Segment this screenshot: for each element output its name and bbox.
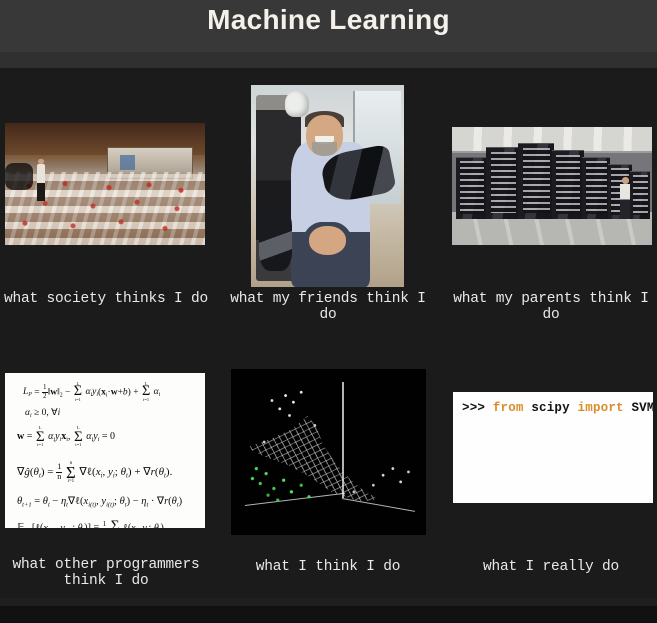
keyword-import: import — [578, 401, 624, 415]
lecture-presenter — [37, 164, 45, 201]
panel-society-image — [5, 123, 205, 245]
server-rack — [552, 150, 584, 219]
keyword-from: from — [493, 401, 524, 415]
svm-3d-surface-plot — [231, 369, 426, 535]
robot-head — [285, 91, 309, 117]
server-rack — [486, 147, 520, 219]
equation-line-6: 𝔼i(t)[ℓ(xi(t), yi(t); θt)] = 1n Σi ℓ(xi,… — [17, 520, 196, 528]
panel-parents-image — [452, 127, 652, 245]
panel-i-really-do-image: >>> from scipy import SVM — [453, 392, 653, 503]
server-rack — [456, 157, 488, 219]
server-rack — [630, 171, 650, 219]
supercomputer-server-racks-photo — [452, 127, 652, 245]
caption-society: what society thinks I do — [0, 291, 212, 307]
symbol-svm: SVM — [624, 401, 653, 415]
lecture-red-accents — [5, 177, 205, 243]
datacenter-technician — [620, 184, 630, 219]
man-beard — [312, 142, 336, 156]
meme-image: Machine Learning what society thinks I d… — [0, 0, 657, 623]
python-console-panel: >>> from scipy import SVM — [453, 392, 653, 503]
panel-other-programmers-image: LP = 12‖w‖2 − LΣi=1 αiyi(xi·w+b) + LΣi=1… — [5, 373, 205, 528]
lecture-hall-photo — [5, 123, 205, 245]
caption-i-really-do: what I really do — [445, 559, 657, 575]
caption-parents: what my parents think I do — [445, 291, 657, 323]
equation-line-3: w = LΣi=1 αiyixi, LΣi=1 αiyi = 0 — [17, 426, 196, 447]
python-prompt: >>> — [462, 401, 493, 415]
panel-i-think-image — [231, 369, 426, 535]
man-clasped-hands — [309, 226, 346, 254]
lecture-dark-corner — [5, 163, 33, 190]
math-equations-panel: LP = 12‖w‖2 − LΣi=1 αiyi(xi·w+b) + LΣi=1… — [5, 373, 205, 528]
caption-i-think: what I think I do — [222, 559, 434, 575]
green-data-points — [231, 369, 426, 535]
panel-friends-image — [251, 85, 404, 287]
server-rack — [518, 143, 554, 220]
bottom-band-inner — [0, 606, 657, 623]
equation-line-2: αi ≥ 0, ∀i — [25, 409, 196, 419]
meme-title: Machine Learning — [0, 4, 657, 36]
module-scipy: scipy — [524, 401, 578, 415]
console-code-line: >>> from scipy import SVM — [462, 401, 653, 415]
server-rack — [582, 157, 610, 219]
equation-line-5: θt+1 = θt − ηt∇ℓ(xi(t), yi(t); θt) − ηt … — [17, 496, 196, 509]
robot-lower-arm — [259, 210, 293, 271]
equation-line-1: LP = 12‖w‖2 − LΣi=1 αiyi(xi·w+b) + LΣi=1… — [23, 382, 196, 402]
man-with-humanoid-robot-photo — [251, 85, 404, 287]
header-shadow-band — [0, 52, 657, 68]
caption-other-programmers: what other programmers think I do — [0, 557, 212, 589]
caption-friends: what my friends think I do — [222, 291, 434, 323]
equation-line-4: ∇ĝ(θt) = 1n nΣi=1 ∇ℓ(xi, yi; θt) + ∇r(θt… — [17, 461, 196, 484]
